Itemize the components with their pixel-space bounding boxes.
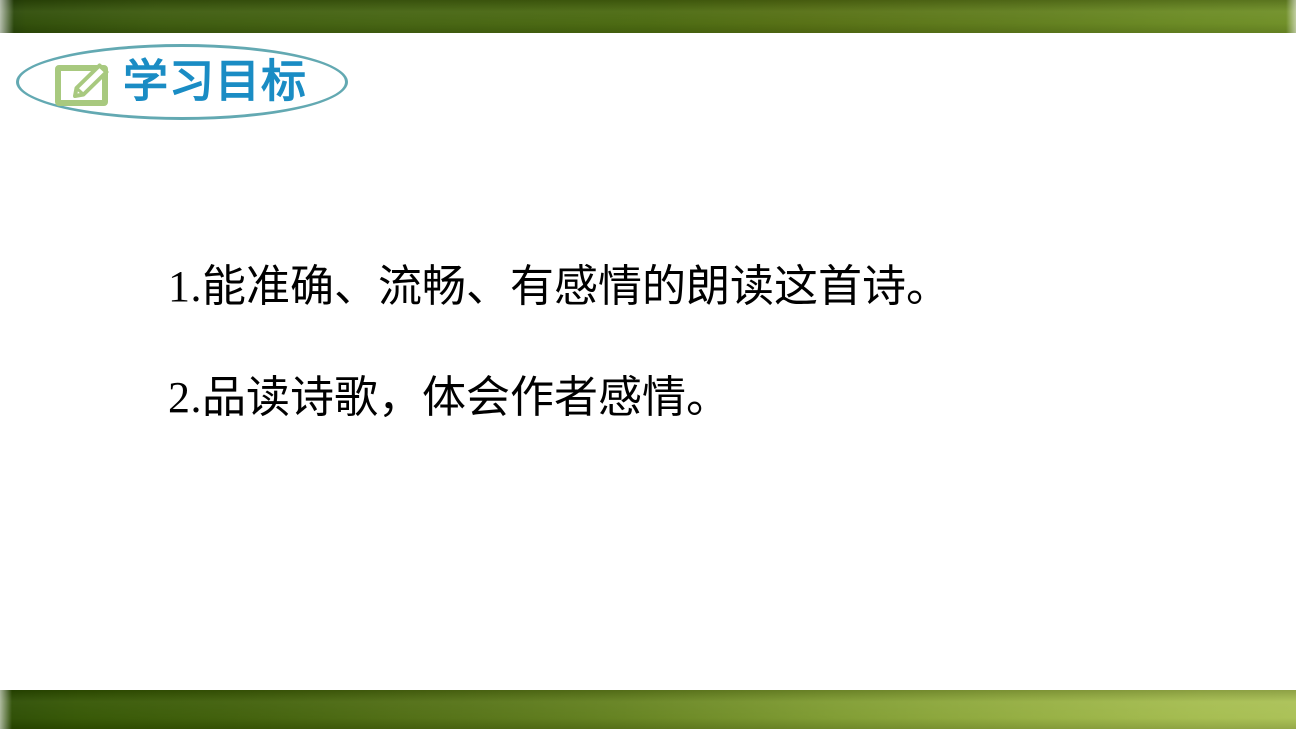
objectives-list: 1.能准确、流畅、有感情的朗读这首诗。 2.品读诗歌，体会作者感情。 bbox=[168, 262, 1168, 423]
bottom-bar-left-fade bbox=[0, 690, 12, 729]
top-bar-right-fade bbox=[1286, 0, 1296, 33]
title-badge: 学习目标 bbox=[16, 44, 348, 120]
objective-text-2: 品读诗歌，体会作者感情。 bbox=[202, 372, 730, 423]
badge-title-text: 学习目标 bbox=[123, 59, 307, 104]
edit-pencil-icon bbox=[55, 63, 113, 107]
objective-text-1: 能准确、流畅、有感情的朗读这首诗。 bbox=[202, 261, 950, 312]
objective-item-2: 2.品读诗歌，体会作者感情。 bbox=[168, 373, 1168, 422]
bottom-bar-shading bbox=[0, 690, 1296, 729]
objective-item-1: 1.能准确、流畅、有感情的朗读这首诗。 bbox=[168, 262, 1168, 311]
top-bar-shading bbox=[0, 0, 1296, 33]
objective-number-1: 1. bbox=[168, 262, 202, 311]
objective-number-2: 2. bbox=[168, 373, 202, 422]
slide-canvas: 学习目标 1.能准确、流畅、有感情的朗读这首诗。 2.品读诗歌，体会作者感情。 bbox=[0, 0, 1296, 729]
top-bar-left-fade bbox=[0, 0, 14, 33]
